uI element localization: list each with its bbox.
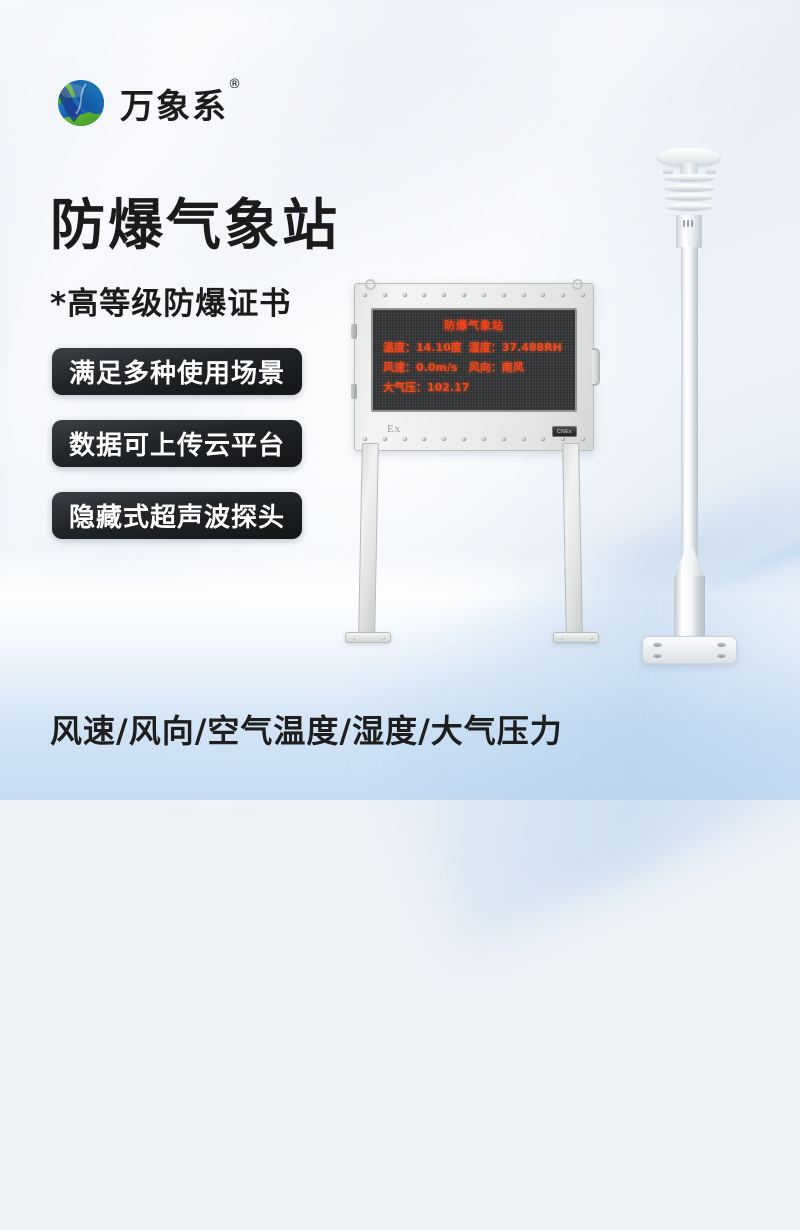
bolt-icon [559, 636, 563, 640]
led-display-panel: 防爆气象站 温度：14.10度 湿度：37.488RH 风速：0.0m/s 风向… [371, 308, 577, 412]
explosion-proof-enclosure: 防爆气象站 温度：14.10度 湿度：37.488RH 风速：0.0m/s 风向… [354, 283, 594, 451]
bolt-icon [462, 437, 466, 441]
page-subtitle: *高等级防爆证书 [50, 278, 291, 323]
bolt-icon [383, 437, 387, 441]
pole-lower-section [674, 576, 705, 644]
led-reading-temperature: 温度：14.10度 [383, 339, 469, 355]
shield-ring [664, 174, 714, 181]
bolt-icon [502, 437, 506, 441]
lifting-eye-icon [365, 279, 376, 290]
bolt-icon [383, 293, 387, 297]
lifting-eye-icon [572, 279, 583, 290]
feature-badge-list: 满足多种使用场景 数据可上传云平台 隐藏式超声波探头 [52, 348, 302, 539]
bolt-icon [363, 437, 367, 441]
bolt-icon [442, 293, 446, 297]
bolt-icon [363, 293, 367, 297]
hinge-icon [351, 384, 357, 399]
led-readings: 温度：14.10度 湿度：37.488RH 风速：0.0m/s 风向：南风 大气… [383, 339, 565, 395]
radiation-shield-rings-icon [664, 174, 714, 212]
feature-badge: 数据可上传云平台 [52, 420, 302, 467]
brand-name-text: 万象系 [120, 87, 228, 127]
bolt-icon [522, 437, 526, 441]
bolt-icon [502, 293, 506, 297]
brand-logo: 万象系 ® [56, 78, 228, 128]
bolt-icon [561, 293, 565, 297]
footer-tagline: 风速/风向/空气温度/湿度/大气压力 [50, 706, 563, 752]
certification-nameplate-text: CNEx [557, 429, 572, 435]
bolt-icon [482, 293, 486, 297]
led-reading-row: 温度：14.10度 湿度：37.488RH [383, 339, 565, 355]
bolt-icon [589, 636, 593, 640]
bolt-icon [541, 437, 545, 441]
bolt-icon [541, 293, 545, 297]
support-leg-left [358, 443, 379, 635]
bolt-icon [522, 293, 526, 297]
support-leg-right [562, 443, 583, 635]
led-reading-humidity: 湿度：37.488RH [469, 339, 565, 355]
bolt-icon [403, 293, 407, 297]
led-reading-windspeed: 风速：0.0m/s [383, 359, 469, 375]
pole-flare [674, 548, 705, 578]
led-reading-pressure: 大气压：102.17 [383, 379, 481, 395]
product-display-station: 防爆气象站 温度：14.10度 湿度：37.488RH 风速：0.0m/s 风向… [320, 283, 605, 663]
led-reading-winddirection: 风向：南风 [469, 359, 565, 375]
bolt-icon [403, 437, 407, 441]
enclosure-bolt-row-bottom [363, 437, 585, 441]
sensor-vent-icon [683, 220, 693, 227]
shield-ring [665, 193, 713, 200]
shield-ring [667, 203, 712, 210]
bolt-icon [581, 293, 585, 297]
bolt-icon [422, 293, 426, 297]
bolt-icon [717, 653, 726, 658]
bolt-icon [717, 642, 726, 647]
bolt-icon [442, 437, 446, 441]
mounting-pole [681, 247, 698, 563]
hinge-icon [351, 324, 357, 339]
led-reading-row: 大气压：102.17 [383, 379, 565, 395]
led-display-title: 防爆气象站 [383, 317, 565, 333]
mounting-flange-icon [642, 636, 737, 664]
ex-marking-label: Ex [387, 423, 401, 435]
sensor-neck [680, 163, 698, 174]
shield-ring [664, 184, 714, 191]
feature-badge: 隐藏式超声波探头 [52, 492, 302, 539]
certification-nameplate: CNEx [552, 426, 577, 437]
feature-badge: 满足多种使用场景 [52, 348, 302, 395]
brand-name: 万象系 ® [120, 79, 228, 128]
bolt-icon [381, 636, 385, 640]
bolt-icon [653, 642, 662, 647]
bolt-icon [482, 437, 486, 441]
bolt-icon [653, 653, 662, 658]
bolt-icon [561, 437, 565, 441]
door-handle-icon [592, 348, 600, 386]
leg-foot-plate [553, 632, 599, 643]
bolt-icon [462, 293, 466, 297]
trademark-symbol: ® [228, 77, 243, 92]
bolt-icon [351, 636, 355, 640]
bolt-icon [581, 437, 585, 441]
enclosure-bolt-row-top [363, 293, 585, 297]
led-reading-row: 风速：0.0m/s 风向：南风 [383, 359, 565, 375]
globe-swirl-logo-icon [56, 78, 106, 128]
bolt-icon [422, 437, 426, 441]
page-title: 防爆气象站 [50, 196, 340, 255]
leg-foot-plate [345, 632, 391, 643]
product-sensor-pole [630, 148, 770, 668]
